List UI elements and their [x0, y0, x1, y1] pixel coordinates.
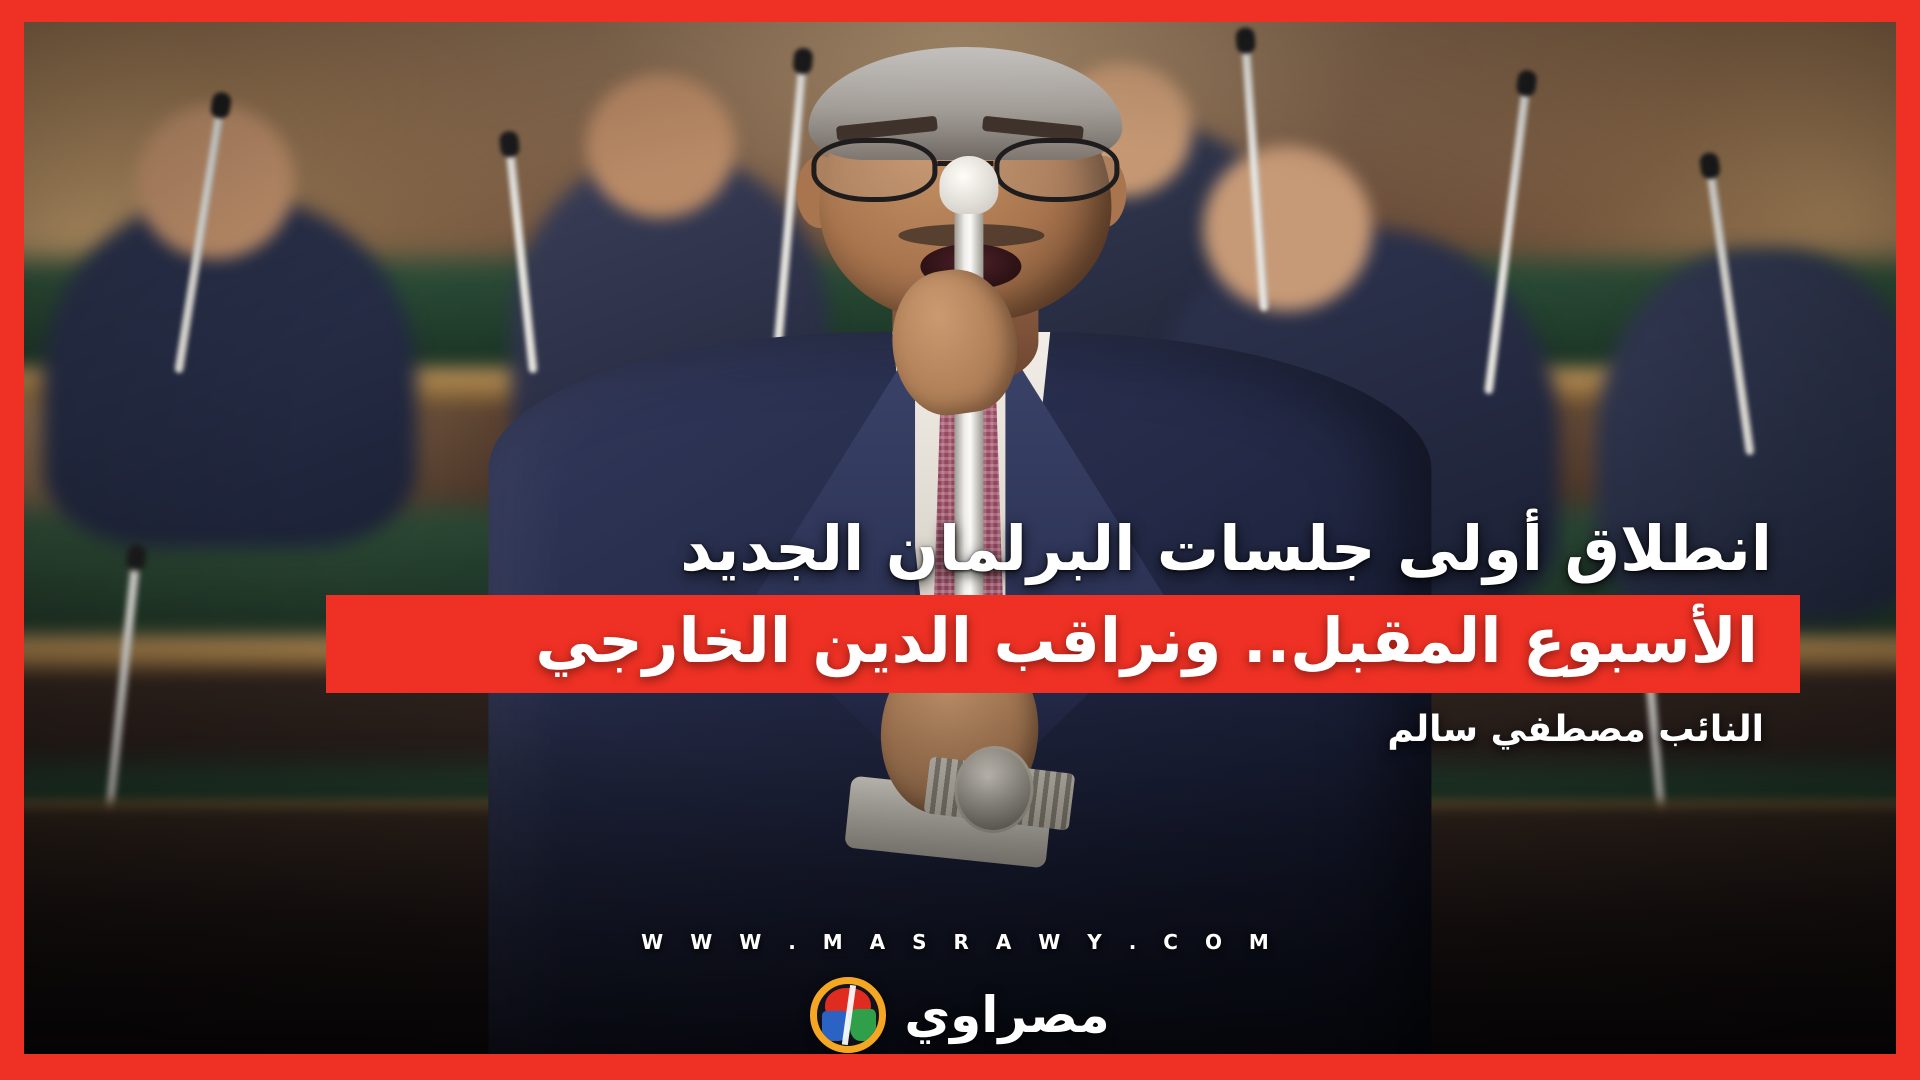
site-url: W W W . M A S R A W Y . C O M — [24, 930, 1896, 954]
brand-wordmark: مصراوي — [904, 990, 1109, 1040]
brand-lockup: مصراوي — [24, 977, 1896, 1053]
headline-line-1: انطلاق أولى جلسات البرلمان الجديد — [24, 514, 1800, 583]
masrawy-logo-icon — [810, 977, 886, 1053]
headline-block: انطلاق أولى جلسات البرلمان الجديد الأسبو… — [24, 514, 1896, 750]
photo-stage: انطلاق أولى جلسات البرلمان الجديد الأسبو… — [24, 22, 1896, 1054]
byline: النائب مصطفي سالم — [24, 709, 1800, 750]
headline-banner: الأسبوع المقبل.. ونراقب الدين الخارجي — [326, 595, 1800, 693]
logo-shape-green — [850, 1009, 876, 1041]
news-card: انطلاق أولى جلسات البرلمان الجديد الأسبو… — [0, 0, 1920, 1080]
